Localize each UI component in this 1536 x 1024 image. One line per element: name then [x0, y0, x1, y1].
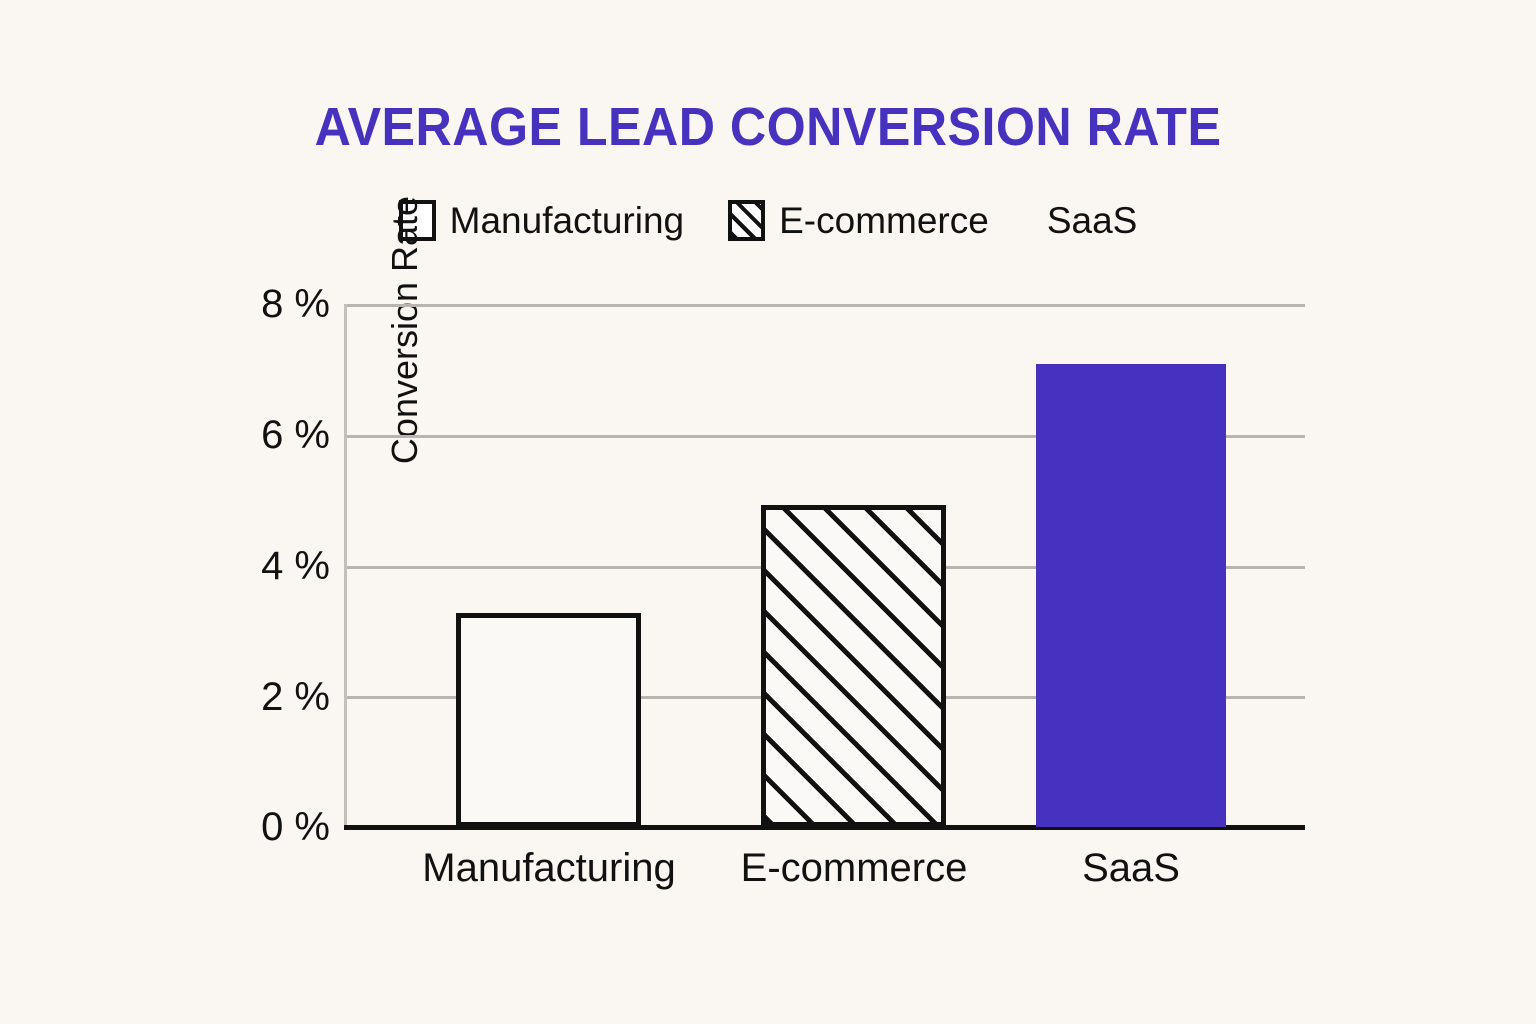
y-tick-label: 8 % [210, 284, 330, 324]
plot-area: Conversion Rate 8 % 6 % 4 % 2 % 0 % Manu… [0, 0, 1536, 1024]
x-tick-label-ecommerce: E-commerce [741, 848, 968, 888]
x-tick-label-manufacturing: Manufacturing [422, 848, 675, 888]
x-tick-label-saas: SaaS [1082, 848, 1180, 888]
bar-saas[interactable] [1036, 364, 1226, 827]
bars-group [344, 304, 1305, 827]
chart-canvas: AVERAGE LEAD CONVERSION RATE Manufacturi… [0, 0, 1536, 1024]
bar-manufacturing[interactable] [456, 613, 641, 827]
x-axis-tick-labels: Manufacturing E-commerce SaaS [344, 848, 1305, 908]
y-tick-label: 2 % [210, 677, 330, 717]
y-axis-tick-labels: 8 % 6 % 4 % 2 % 0 % [150, 0, 330, 1024]
y-tick-label: 0 % [210, 807, 330, 847]
y-tick-label: 6 % [210, 415, 330, 455]
bar-ecommerce[interactable] [761, 505, 946, 827]
y-tick-label: 4 % [210, 546, 330, 586]
